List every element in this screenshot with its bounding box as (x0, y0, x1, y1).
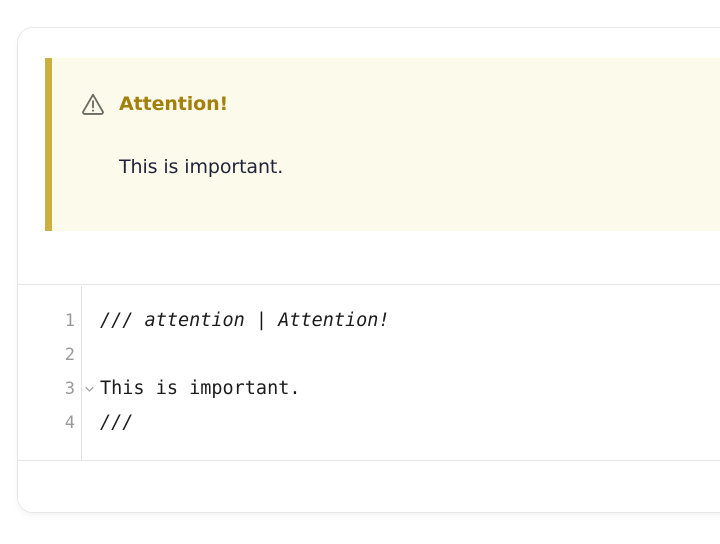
chevron-down-icon[interactable] (84, 384, 95, 395)
code-line[interactable]: This is important. (100, 372, 720, 406)
code-editor-surface[interactable]: 1234 /// attention | Attention!This is i… (18, 286, 720, 461)
documentation-card: Attention! This is important. 1234 /// a… (17, 27, 720, 513)
line-number: 2 (65, 347, 75, 364)
line-number-gutter: 1234 (18, 286, 82, 461)
admonition-title-row: Attention! (80, 91, 228, 117)
warning-triangle-icon (80, 91, 106, 117)
preview-pane: Attention! This is important. (18, 28, 720, 285)
line-number: 3 (65, 381, 75, 398)
line-number: 4 (65, 415, 75, 432)
admonition-title: Attention! (119, 93, 228, 115)
code-line[interactable] (100, 338, 720, 372)
gutter-row: 3 (18, 372, 81, 406)
code-editor-pane[interactable]: 1234 /// attention | Attention!This is i… (18, 286, 720, 513)
gutter-row: 4 (18, 406, 81, 440)
gutter-row: 1 (18, 304, 81, 338)
gutter-row: 2 (18, 338, 81, 372)
line-number: 1 (65, 313, 75, 330)
code-line[interactable]: /// (100, 406, 720, 440)
code-content[interactable]: /// attention | Attention!This is import… (100, 304, 720, 440)
code-line[interactable]: /// attention | Attention! (100, 304, 720, 338)
admonition-body-text: This is important. (119, 156, 283, 178)
admonition-attention: Attention! This is important. (45, 58, 720, 231)
editor-footer (18, 462, 720, 513)
